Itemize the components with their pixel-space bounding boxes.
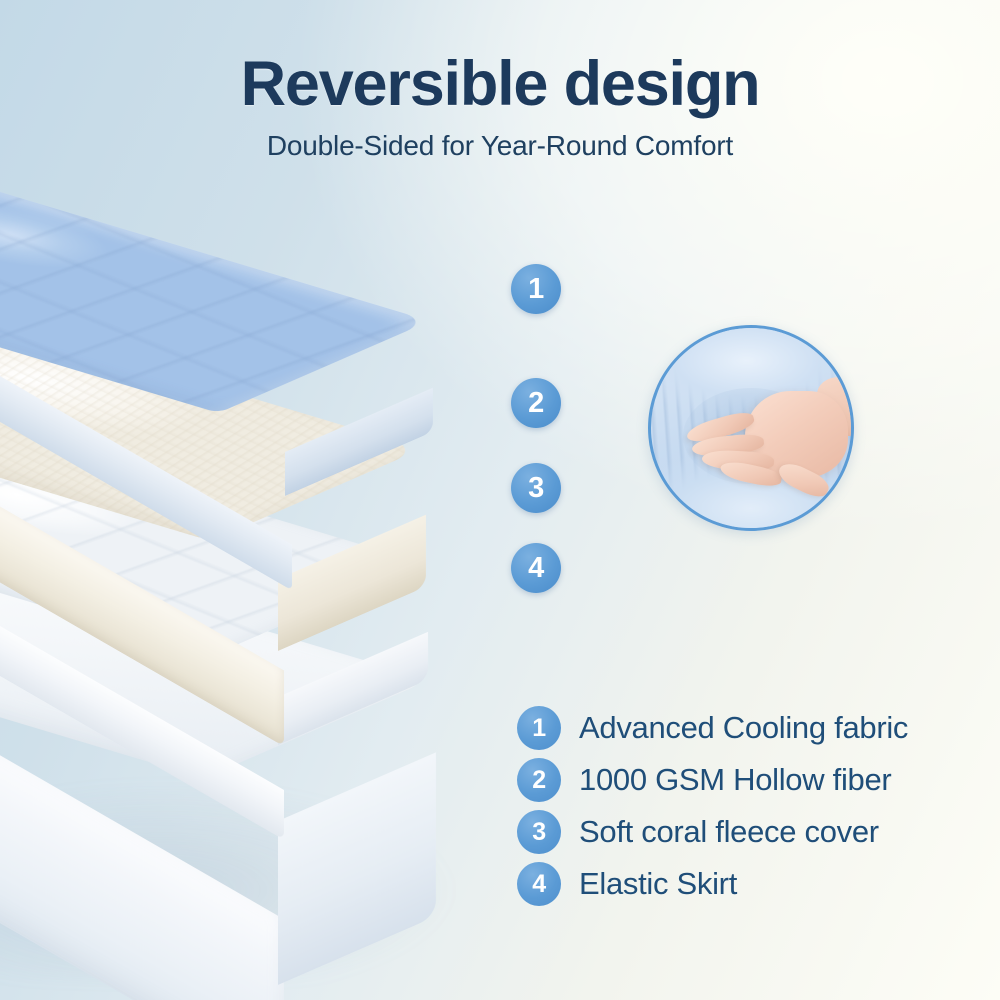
legend-badge-4: 4 xyxy=(517,862,561,906)
mattress-layer-stack-illustration xyxy=(0,180,570,900)
legend-badge-3: 3 xyxy=(517,810,561,854)
callout-badge-2[interactable]: 2 xyxy=(511,378,561,428)
cooling-fabric-quilt-seams xyxy=(0,180,430,413)
hand-press-detail-inset xyxy=(648,325,854,531)
callout-badge-4[interactable]: 4 xyxy=(511,543,561,593)
page-subtitle: Double-Sided for Year-Round Comfort xyxy=(0,130,1000,162)
legend-label-3: Soft coral fleece cover xyxy=(579,814,879,850)
callout-badge-1[interactable]: 1 xyxy=(511,264,561,314)
product-infographic: Reversible design Double-Sided for Year-… xyxy=(0,0,1000,1000)
legend-badge-1: 1 xyxy=(517,706,561,750)
header: Reversible design Double-Sided for Year-… xyxy=(0,52,1000,162)
legend-item-1[interactable]: 1 Advanced Cooling fabric xyxy=(517,702,908,754)
page-title: Reversible design xyxy=(0,52,1000,116)
legend-label-2: 1000 GSM Hollow fiber xyxy=(579,762,891,798)
legend-list: 1 Advanced Cooling fabric 2 1000 GSM Hol… xyxy=(517,702,908,910)
legend-item-3[interactable]: 3 Soft coral fleece cover xyxy=(517,806,908,858)
hand-illustration xyxy=(711,384,854,496)
callout-badge-3[interactable]: 3 xyxy=(511,463,561,513)
legend-label-1: Advanced Cooling fabric xyxy=(579,710,908,746)
legend-badge-2: 2 xyxy=(517,758,561,802)
legend-label-4: Elastic Skirt xyxy=(579,866,737,902)
layer-1-cooling-fabric xyxy=(0,180,530,470)
legend-item-4[interactable]: 4 Elastic Skirt xyxy=(517,858,908,910)
legend-item-2[interactable]: 2 1000 GSM Hollow fiber xyxy=(517,754,908,806)
